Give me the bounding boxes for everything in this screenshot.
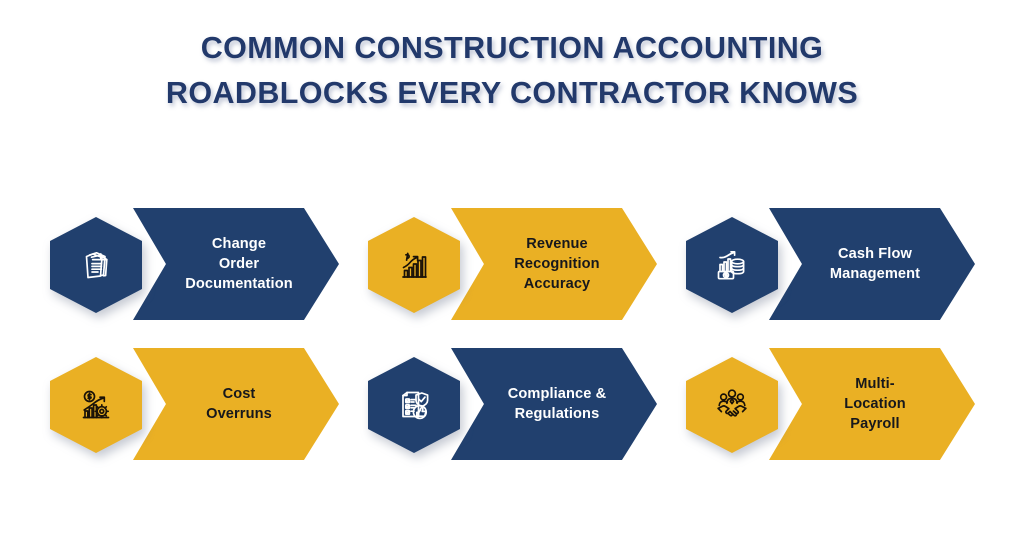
roadblock-card-cost-overruns[interactable]: Cost Overruns [50,345,339,465]
roadblock-card-change-order-documentation[interactable]: Change Order Documentation [50,205,339,325]
roadblock-card-revenue-recognition-accuracy[interactable]: Revenue Recognition Accuracy [368,205,657,325]
card-banner: Compliance & Regulations [451,348,657,460]
card-row-top: Change Order Documentation [0,205,1024,345]
page-title: COMMON CONSTRUCTION ACCOUNTING ROADBLOCK… [0,26,1024,116]
stacked-documents-icon [76,245,116,285]
roadblock-card-multi-location-payroll[interactable]: Multi- Location Payroll [686,345,975,465]
card-label: Multi- Location Payroll [844,374,906,434]
card-banner: Multi- Location Payroll [769,348,975,460]
coins-banknote-chart-icon [712,245,752,285]
card-icon-badge [50,357,142,453]
card-icon-badge [50,217,142,313]
card-label: Revenue Recognition Accuracy [514,234,599,294]
roadblock-card-compliance-regulations[interactable]: Compliance & Regulations [368,345,657,465]
card-banner: Cash Flow Management [769,208,975,320]
card-label: Cash Flow Management [830,244,920,284]
card-icon-badge [368,357,460,453]
card-icon-badge [686,357,778,453]
card-banner: Revenue Recognition Accuracy [451,208,657,320]
card-label: Change Order Documentation [185,234,293,294]
card-banner: Change Order Documentation [133,208,339,320]
card-row-bottom: Cost Overruns [0,345,1024,485]
page-title-line-2: ROADBLOCKS EVERY CONTRACTOR KNOWS [0,71,1024,116]
clipboard-shield-thumbsup-icon [394,385,434,425]
card-icon-badge [368,217,460,313]
card-banner: Cost Overruns [133,348,339,460]
dollar-growth-gear-icon [76,385,116,425]
roadblock-card-grid: Change Order Documentation [0,205,1024,485]
page-title-line-1: COMMON CONSTRUCTION ACCOUNTING [0,26,1024,71]
team-handshake-icon [712,385,752,425]
card-label: Compliance & Regulations [508,384,607,424]
card-label: Cost Overruns [206,384,272,424]
roadblock-card-cash-flow-management[interactable]: Cash Flow Management [686,205,975,325]
bar-chart-growth-dollar-icon [394,245,434,285]
card-icon-badge [686,217,778,313]
